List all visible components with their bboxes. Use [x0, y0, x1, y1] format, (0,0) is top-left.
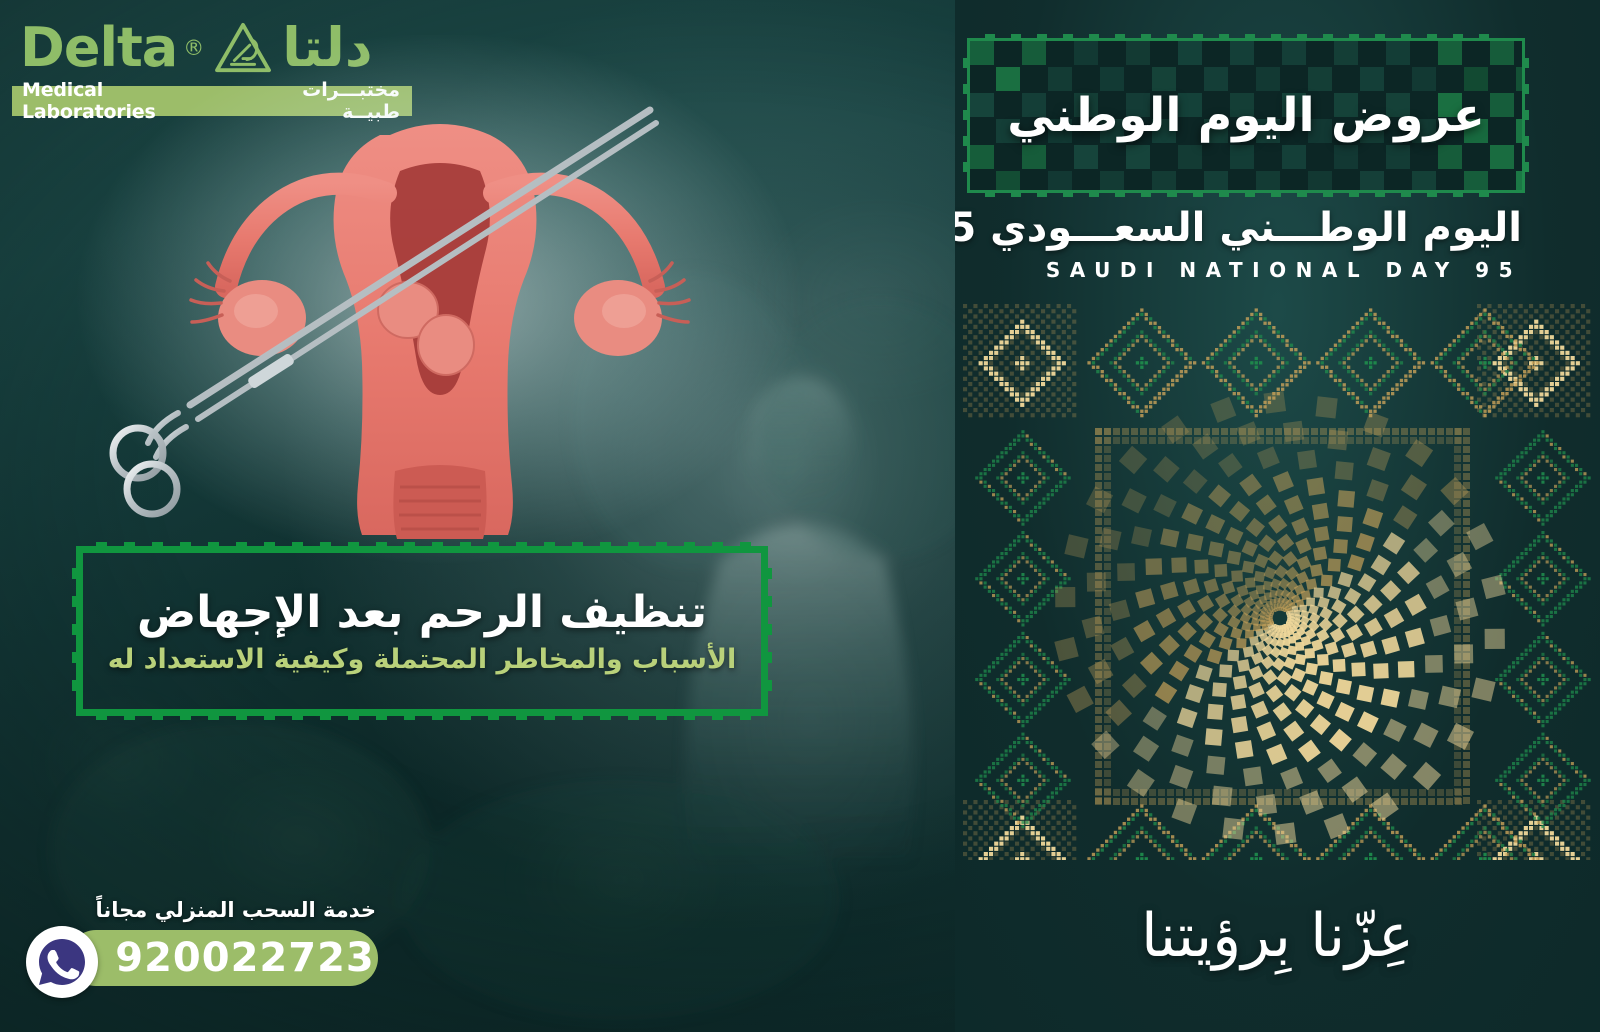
whatsapp-icon[interactable]: [26, 926, 98, 998]
whatsapp-glyph-icon: [36, 936, 88, 988]
offers-banner: عروض اليوم الوطني: [963, 34, 1529, 197]
national-day-headline-ar: اليوم الوطـــني السعـــودي 95: [955, 205, 1522, 251]
national-day-panel: عروض اليوم الوطني اليوم الوطـــني السعــ…: [955, 0, 1600, 1032]
national-day-slogan: عِزّنا بِرؤيتنا: [955, 886, 1600, 986]
home-collection-label: خدمة السحب المنزلي مجاناً: [96, 898, 376, 922]
page-title: تنظيف الرحم بعد الإجهاض: [137, 587, 707, 638]
medical-illustration: [90, 75, 790, 545]
phone-number: 920022723: [71, 938, 375, 978]
offers-banner-title: عروض اليوم الوطني: [963, 34, 1529, 197]
sadu-pattern: [955, 300, 1600, 860]
national-day-headline-en: SAUDI NATIONAL DAY 95: [1046, 258, 1522, 282]
phone-pill[interactable]: 920022723: [68, 930, 378, 986]
poster-canvas: Delta ® دلتا Medical Laboratories مختبــ…: [0, 0, 1600, 1032]
uterus-anatomy-icon: [90, 75, 790, 545]
sadu-pattern-svg: [955, 300, 1600, 860]
page-subtitle: الأسباب والمخاطر المحتملة وكيفية الاستعد…: [108, 644, 737, 675]
headline-stamp-frame: تنظيف الرحم بعد الإجهاض الأسباب والمخاطر…: [72, 542, 772, 720]
